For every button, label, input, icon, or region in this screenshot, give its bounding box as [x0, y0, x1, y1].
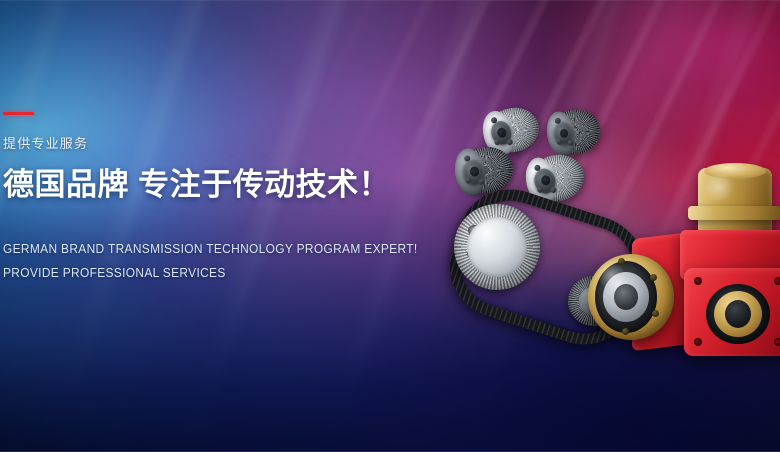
pulley-hub	[489, 119, 514, 147]
pulley-flange	[452, 146, 488, 198]
pulley-rim	[456, 143, 516, 196]
banner-subhead: 提供专业服务	[3, 137, 423, 150]
gearbox-black-ring	[595, 261, 657, 333]
pulley-lightening-holes	[467, 217, 527, 277]
hero-banner: 提供专业服务 德国品牌 专注于传动技术！ GERMAN BRAND TRANSM…	[0, 0, 780, 452]
flange-bolt	[618, 258, 625, 265]
pulley-bore	[496, 127, 507, 139]
flange-bolt	[650, 274, 657, 281]
pulley-bolt	[506, 138, 513, 145]
pulley-bolt	[534, 164, 541, 171]
gearbox-output-bore	[614, 284, 638, 310]
pulley-hub	[552, 121, 575, 147]
pulley-bolt	[550, 186, 557, 193]
timing-belt-assembly	[452, 196, 638, 346]
pulley-hub	[462, 158, 486, 186]
pulley-rim	[482, 102, 543, 157]
flange-bolt	[774, 338, 780, 346]
flange-bolt	[652, 310, 659, 317]
banner-headline: 德国品牌 专注于传动技术！	[3, 168, 423, 203]
flange-bolt	[774, 277, 780, 285]
flange-bolt	[622, 328, 629, 335]
pulley-rim	[547, 106, 604, 158]
pulley-flange	[543, 109, 579, 159]
flange-black-disc	[706, 284, 770, 344]
accent-rule	[3, 112, 34, 115]
pulley-bolt	[464, 155, 471, 162]
pulley-bore	[540, 175, 551, 187]
barrel-specular	[702, 174, 736, 200]
top-edge-line	[0, 0, 780, 1]
english-line-2: PROVIDE PROFESSIONAL SERVICES	[3, 261, 404, 285]
right-angle-gearbox-rear	[588, 232, 720, 354]
toothed-timing-belt	[437, 176, 658, 358]
belt-teeth	[437, 176, 658, 358]
timing-pulley-top-right	[547, 106, 604, 158]
small-idler-pulley	[568, 276, 618, 326]
flange-bolt	[694, 277, 702, 285]
pulley-bore	[469, 166, 479, 177]
pulley-bolt	[465, 177, 472, 184]
pulley-bore	[559, 128, 568, 138]
pulley-flange	[478, 108, 518, 160]
gearbox-brass-barrel	[698, 168, 772, 242]
flange-output-shaft	[725, 300, 751, 328]
gearbox-barrel-collar	[688, 206, 780, 220]
large-toothed-pulley	[454, 204, 540, 290]
gearbox-steel-ring	[603, 272, 649, 322]
pulley-hub	[532, 167, 558, 196]
gearbox-barrel-top	[704, 163, 766, 179]
pulley-bolt	[494, 138, 501, 145]
pulley-bolt	[478, 178, 485, 185]
timing-pulley-mid-right	[526, 150, 588, 206]
pulley-center-hub	[485, 235, 509, 259]
pulley-bolt	[537, 186, 544, 193]
gearbox-specular	[596, 262, 626, 288]
pulley-bolt	[567, 139, 574, 146]
pulley-bolt	[556, 138, 563, 145]
flange-bolt	[694, 338, 702, 346]
pulley-rim	[526, 150, 588, 206]
banner-english-copy: GERMAN BRAND TRANSMISSION TECHNOLOGY PRO…	[3, 237, 404, 285]
banner-copy: 提供专业服务 德国品牌 专注于传动技术！ GERMAN BRAND TRANSM…	[3, 112, 423, 285]
gearbox-brass-flange	[588, 254, 674, 340]
product-halo	[430, 80, 780, 380]
flange-brass-ring	[714, 291, 762, 337]
gearbox-red-housing	[632, 229, 716, 351]
timing-pulley-mid-left	[456, 143, 516, 196]
pulley-bolt	[490, 117, 497, 124]
idler-bore	[588, 296, 598, 306]
gearbox-red-body	[680, 230, 780, 280]
pulley-bolt	[554, 117, 561, 124]
right-angle-gearbox-front	[676, 168, 780, 356]
english-line-1: GERMAN BRAND TRANSMISSION TECHNOLOGY PRO…	[3, 237, 404, 261]
timing-pulley-top-left	[482, 102, 543, 157]
gearbox-square-flange	[684, 268, 780, 356]
pulley-flange	[522, 155, 561, 208]
